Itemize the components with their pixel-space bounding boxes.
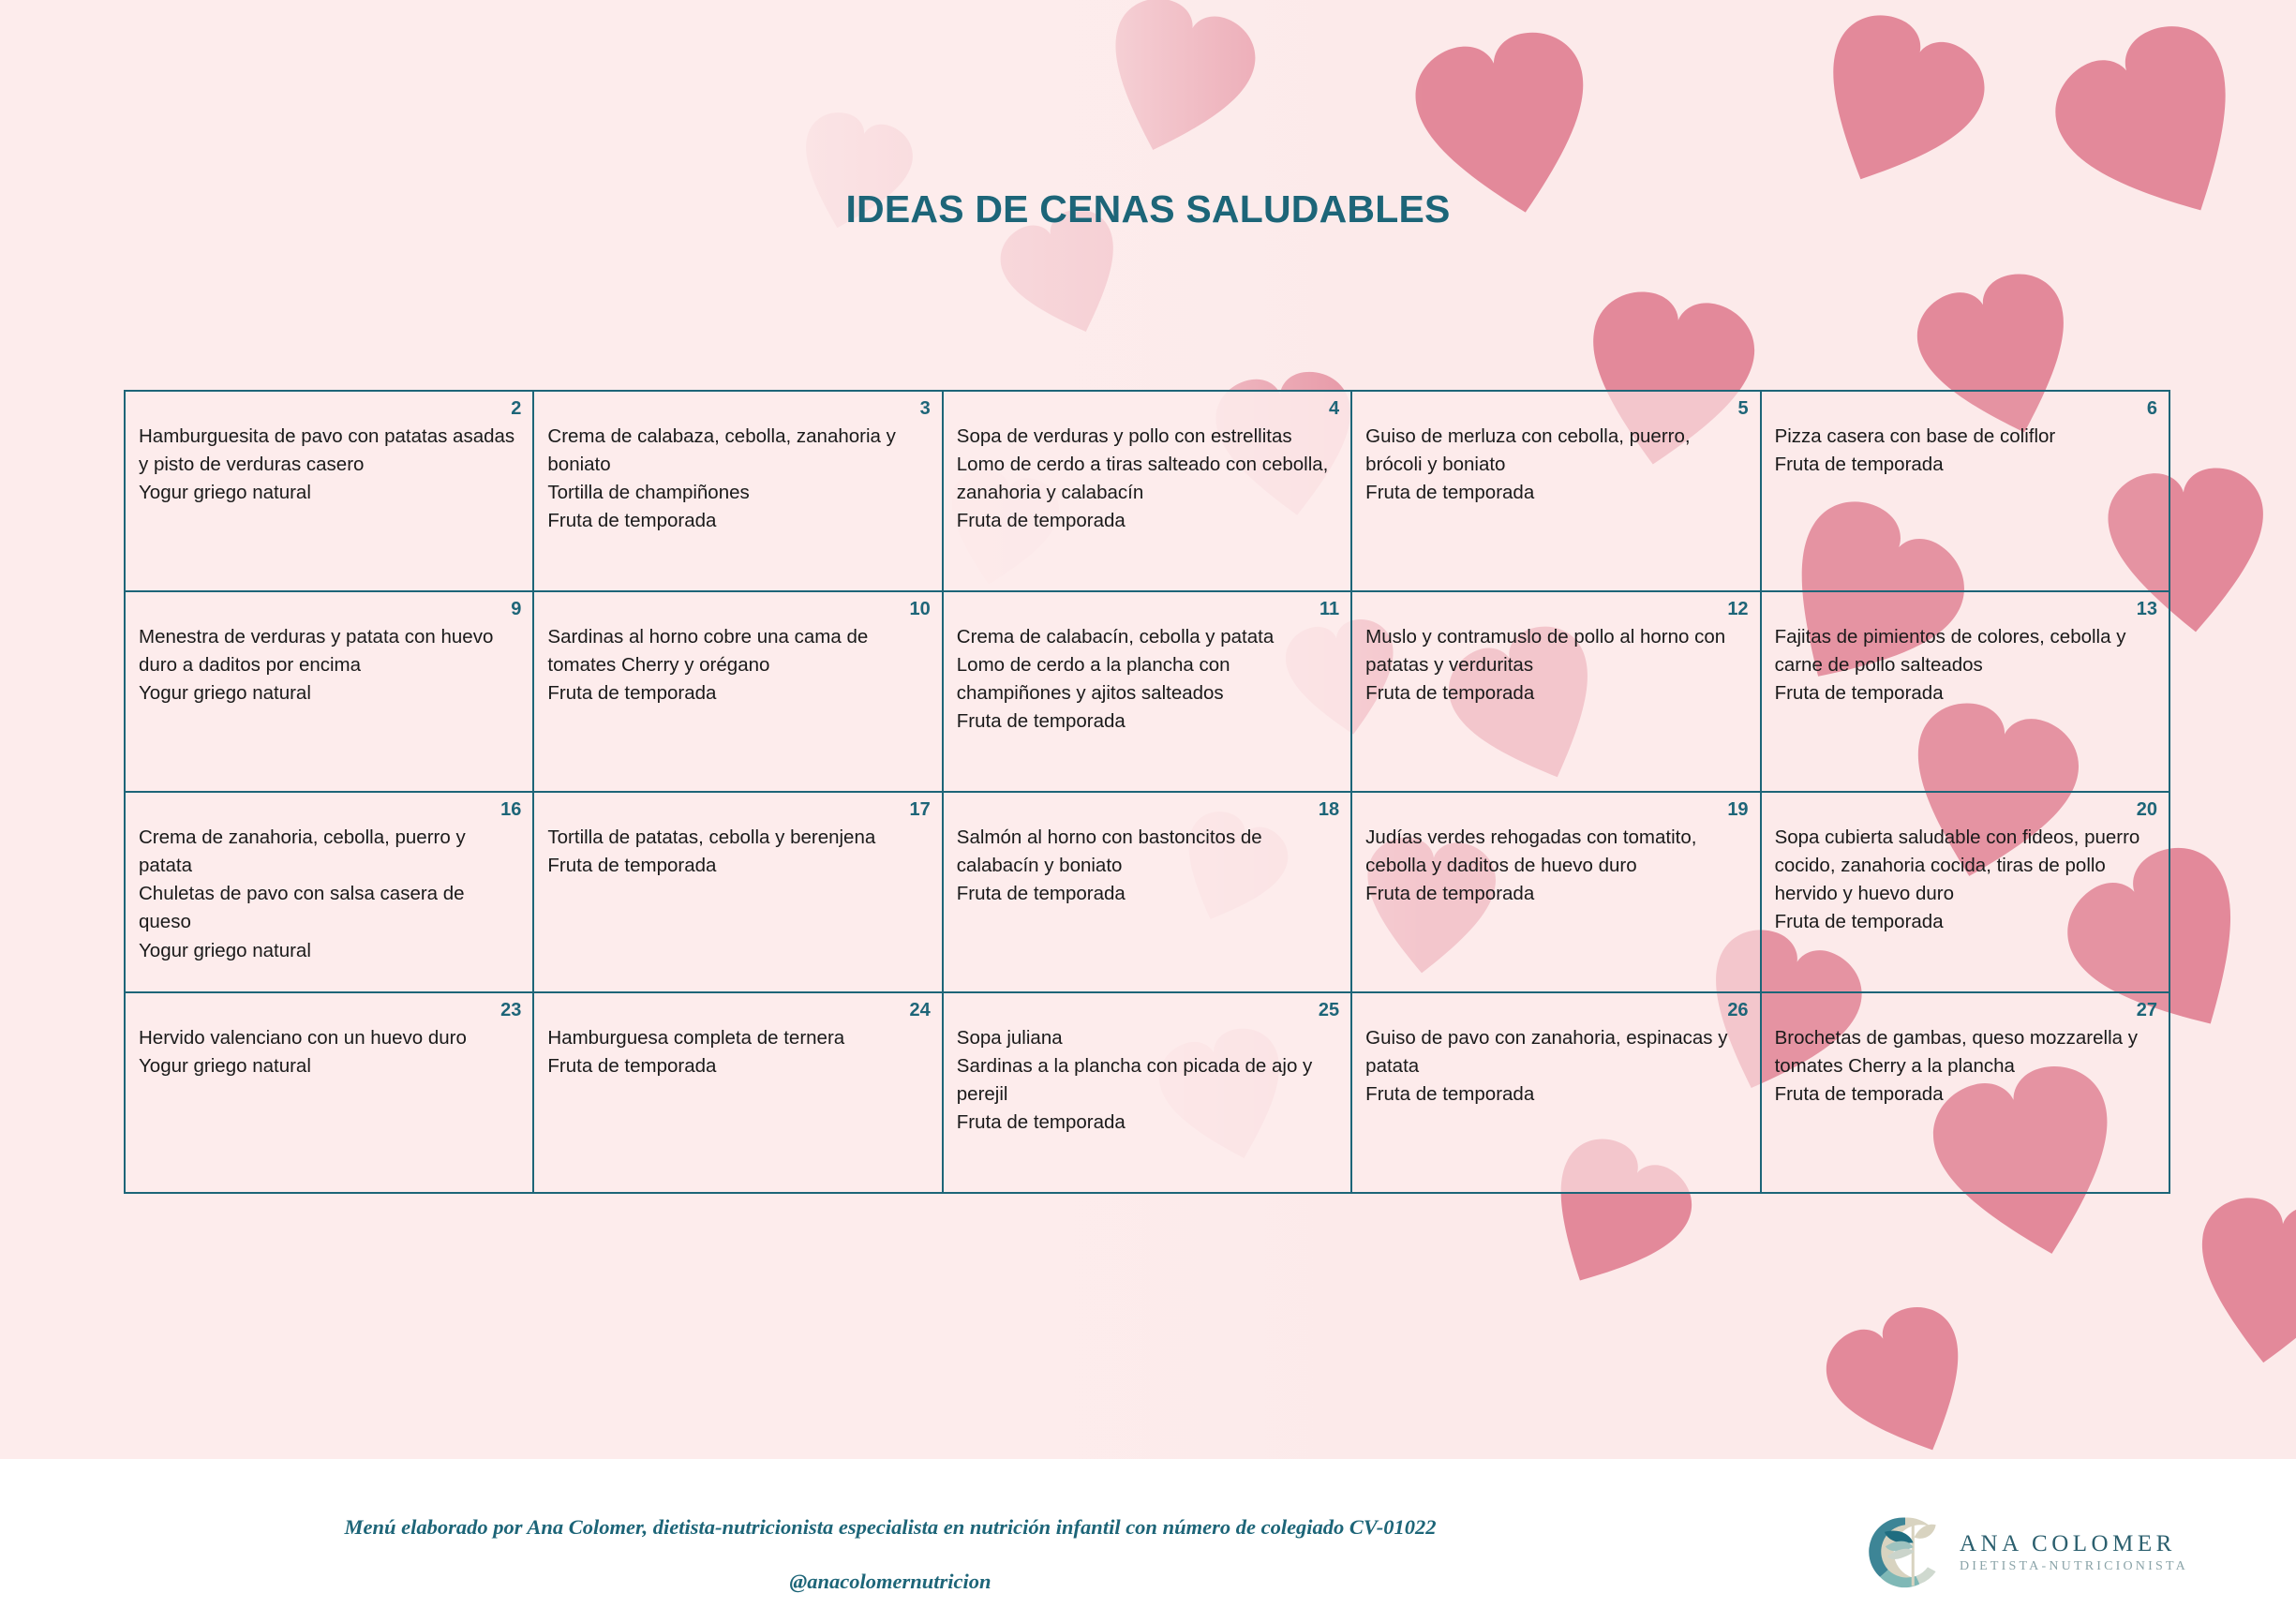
meal-line: Fruta de temporada xyxy=(547,679,930,707)
day-number: 9 xyxy=(139,600,521,619)
meal-list: Brochetas de gambas, queso mozzarella y … xyxy=(1775,1024,2157,1109)
meal-list: Fajitas de pimientos de colores, cebolla… xyxy=(1775,623,2157,707)
meal-line: Fruta de temporada xyxy=(547,852,930,880)
meal-list: Hervido valenciano con un huevo duroYogu… xyxy=(139,1024,521,1080)
meal-line: Fruta de temporada xyxy=(1365,479,1748,507)
calendar-day-cell[interactable]: 20Sopa cubierta saludable con fideos, pu… xyxy=(1761,792,2169,992)
meal-line: Guiso de merluza con cebolla, puerro, br… xyxy=(1365,423,1748,479)
meal-line: Fruta de temporada xyxy=(957,707,1339,736)
day-number: 10 xyxy=(547,600,930,619)
day-number: 16 xyxy=(139,800,521,820)
meal-line: Fruta de temporada xyxy=(547,1052,930,1080)
meal-line: Yogur griego natural xyxy=(139,1052,521,1080)
day-number: 4 xyxy=(957,399,1339,419)
leaf-circle-logo-icon xyxy=(1860,1507,1950,1597)
meal-list: Guiso de pavo con zanahoria, espinacas y… xyxy=(1365,1024,1748,1109)
day-number: 12 xyxy=(1365,600,1748,619)
meal-line: Tortilla de champiñones xyxy=(547,479,930,507)
calendar-week-row: 9Menestra de verduras y patata con huevo… xyxy=(125,591,2169,792)
meal-list: Pizza casera con base de coliflorFruta d… xyxy=(1775,423,2157,479)
calendar-day-cell[interactable]: 13Fajitas de pimientos de colores, cebol… xyxy=(1761,591,2169,792)
calendar-day-cell[interactable]: 11Crema de calabacín, cebolla y patataLo… xyxy=(943,591,1351,792)
meal-list: Sopa cubierta saludable con fideos, puer… xyxy=(1775,824,2157,937)
day-number: 26 xyxy=(1365,1001,1748,1020)
meal-list: Guiso de merluza con cebolla, puerro, br… xyxy=(1365,423,1748,507)
calendar-day-cell[interactable]: 25Sopa julianaSardinas a la plancha con … xyxy=(943,992,1351,1193)
meal-line: Hervido valenciano con un huevo duro xyxy=(139,1024,521,1052)
day-number: 24 xyxy=(547,1001,930,1020)
meal-list: Sardinas al horno cobre una cama de toma… xyxy=(547,623,930,707)
day-number: 17 xyxy=(547,800,930,820)
meal-line: Judías verdes rehogadas con tomatito, ce… xyxy=(1365,824,1748,880)
day-number: 18 xyxy=(957,800,1339,820)
meal-line: Fajitas de pimientos de colores, cebolla… xyxy=(1775,623,2157,679)
calendar-day-cell[interactable]: 6Pizza casera con base de coliflorFruta … xyxy=(1761,391,2169,591)
page-title: IDEAS DE CENAS SALUDABLES xyxy=(0,187,2296,231)
meal-list: Hamburguesita de pavo con patatas asadas… xyxy=(139,423,521,507)
day-number: 27 xyxy=(1775,1001,2157,1020)
brand-logo: ANA COLOMER DIETISTA-NUTRICIONISTA xyxy=(1860,1499,2216,1604)
day-number: 20 xyxy=(1775,800,2157,820)
meal-line: Fruta de temporada xyxy=(957,507,1339,535)
meal-line: Fruta de temporada xyxy=(547,507,930,535)
meal-line: Hamburguesita de pavo con patatas asadas… xyxy=(139,423,521,479)
calendar-body: 2Hamburguesita de pavo con patatas asada… xyxy=(125,391,2169,1193)
calendar-day-cell[interactable]: 5Guiso de merluza con cebolla, puerro, b… xyxy=(1351,391,1760,591)
meal-line: Guiso de pavo con zanahoria, espinacas y… xyxy=(1365,1024,1748,1080)
meal-line: Fruta de temporada xyxy=(1775,679,2157,707)
day-number: 2 xyxy=(139,399,521,419)
meal-list: Menestra de verduras y patata con huevo … xyxy=(139,623,521,707)
meal-line: Fruta de temporada xyxy=(1365,679,1748,707)
meal-list: Hamburguesa completa de terneraFruta de … xyxy=(547,1024,930,1080)
day-number: 25 xyxy=(957,1001,1339,1020)
day-number: 13 xyxy=(1775,600,2157,619)
meal-line: Sopa cubierta saludable con fideos, puer… xyxy=(1775,824,2157,908)
meal-list: Muslo y contramuslo de pollo al horno co… xyxy=(1365,623,1748,707)
meal-line: Chuletas de pavo con salsa casera de que… xyxy=(139,880,521,936)
calendar-week-row: 16Crema de zanahoria, cebolla, puerro y … xyxy=(125,792,2169,992)
footer-credit-line: Menú elaborado por Ana Colomer, dietista… xyxy=(0,1515,1781,1540)
day-number: 11 xyxy=(957,600,1339,619)
calendar-day-cell[interactable]: 10Sardinas al horno cobre una cama de to… xyxy=(533,591,942,792)
day-number: 23 xyxy=(139,1001,521,1020)
day-number: 3 xyxy=(547,399,930,419)
meal-line: Crema de zanahoria, cebolla, puerro y pa… xyxy=(139,824,521,880)
meal-line: Yogur griego natural xyxy=(139,679,521,707)
meal-line: Tortilla de patatas, cebolla y berenjena xyxy=(547,824,930,852)
calendar-day-cell[interactable]: 12Muslo y contramuslo de pollo al horno … xyxy=(1351,591,1760,792)
meal-list: Sopa de verduras y pollo con estrellitas… xyxy=(957,423,1339,536)
calendar-day-cell[interactable]: 24Hamburguesa completa de terneraFruta d… xyxy=(533,992,942,1193)
meal-line: Pizza casera con base de coliflor xyxy=(1775,423,2157,451)
logo-brand-subtitle: DIETISTA-NUTRICIONISTA xyxy=(1960,1558,2188,1575)
meal-line: Lomo de cerdo a tiras salteado con cebol… xyxy=(957,451,1339,507)
meal-list: Tortilla de patatas, cebolla y berenjena… xyxy=(547,824,930,880)
calendar-day-cell[interactable]: 26Guiso de pavo con zanahoria, espinacas… xyxy=(1351,992,1760,1193)
calendar-day-cell[interactable]: 16Crema de zanahoria, cebolla, puerro y … xyxy=(125,792,533,992)
meal-line: Muslo y contramuslo de pollo al horno co… xyxy=(1365,623,1748,679)
meal-line: Fruta de temporada xyxy=(1775,451,2157,479)
calendar-week-row: 2Hamburguesita de pavo con patatas asada… xyxy=(125,391,2169,591)
meal-line: Hamburguesa completa de ternera xyxy=(547,1024,930,1052)
meal-line: Fruta de temporada xyxy=(957,880,1339,908)
calendar-day-cell[interactable]: 2Hamburguesita de pavo con patatas asada… xyxy=(125,391,533,591)
meal-line: Fruta de temporada xyxy=(1365,1080,1748,1109)
calendar-day-cell[interactable]: 9Menestra de verduras y patata con huevo… xyxy=(125,591,533,792)
footer-instagram-handle: @anacolomernutricion xyxy=(0,1570,1781,1594)
meal-line: Sopa de verduras y pollo con estrellitas xyxy=(957,423,1339,451)
calendar-week-row: 23Hervido valenciano con un huevo duroYo… xyxy=(125,992,2169,1193)
day-number: 5 xyxy=(1365,399,1748,419)
meal-line: Lomo de cerdo a la plancha con champiñon… xyxy=(957,651,1339,707)
meal-list: Sopa julianaSardinas a la plancha con pi… xyxy=(957,1024,1339,1138)
meal-line: Crema de calabacín, cebolla y patata xyxy=(957,623,1339,651)
meal-line: Brochetas de gambas, queso mozzarella y … xyxy=(1775,1024,2157,1080)
calendar-day-cell[interactable]: 18Salmón al horno con bastoncitos de cal… xyxy=(943,792,1351,992)
calendar-day-cell[interactable]: 4Sopa de verduras y pollo con estrellita… xyxy=(943,391,1351,591)
meal-list: Judías verdes rehogadas con tomatito, ce… xyxy=(1365,824,1748,908)
calendar-day-cell[interactable]: 27Brochetas de gambas, queso mozzarella … xyxy=(1761,992,2169,1193)
meal-list: Crema de calabacín, cebolla y patataLomo… xyxy=(957,623,1339,737)
calendar-day-cell[interactable]: 23Hervido valenciano con un huevo duroYo… xyxy=(125,992,533,1193)
meal-line: Fruta de temporada xyxy=(1365,880,1748,908)
logo-brand-name: ANA COLOMER xyxy=(1960,1529,2188,1558)
meal-line: Salmón al horno con bastoncitos de calab… xyxy=(957,824,1339,880)
meal-list: Crema de zanahoria, cebolla, puerro y pa… xyxy=(139,824,521,965)
day-number: 19 xyxy=(1365,800,1748,820)
calendar-day-cell[interactable]: 3Crema de calabaza, cebolla, zanahoria y… xyxy=(533,391,942,591)
calendar-day-cell[interactable]: 19Judías verdes rehogadas con tomatito, … xyxy=(1351,792,1760,992)
meal-list: Salmón al horno con bastoncitos de calab… xyxy=(957,824,1339,908)
meal-list: Crema de calabaza, cebolla, zanahoria y … xyxy=(547,423,930,536)
meal-line: Fruta de temporada xyxy=(1775,1080,2157,1109)
meal-line: Yogur griego natural xyxy=(139,479,521,507)
meal-line: Sardinas al horno cobre una cama de toma… xyxy=(547,623,930,679)
meal-line: Sopa juliana xyxy=(957,1024,1339,1052)
calendar-day-cell[interactable]: 17Tortilla de patatas, cebolla y berenje… xyxy=(533,792,942,992)
logo-text-block: ANA COLOMER DIETISTA-NUTRICIONISTA xyxy=(1960,1529,2188,1575)
meal-line: Crema de calabaza, cebolla, zanahoria y … xyxy=(547,423,930,479)
day-number: 6 xyxy=(1775,399,2157,419)
meal-line: Fruta de temporada xyxy=(1775,908,2157,936)
meal-line: Yogur griego natural xyxy=(139,937,521,965)
meal-line: Sardinas a la plancha con picada de ajo … xyxy=(957,1052,1339,1109)
dinner-ideas-calendar: 2Hamburguesita de pavo con patatas asada… xyxy=(124,390,2170,1194)
meal-line: Fruta de temporada xyxy=(957,1109,1339,1137)
meal-line: Menestra de verduras y patata con huevo … xyxy=(139,623,521,679)
